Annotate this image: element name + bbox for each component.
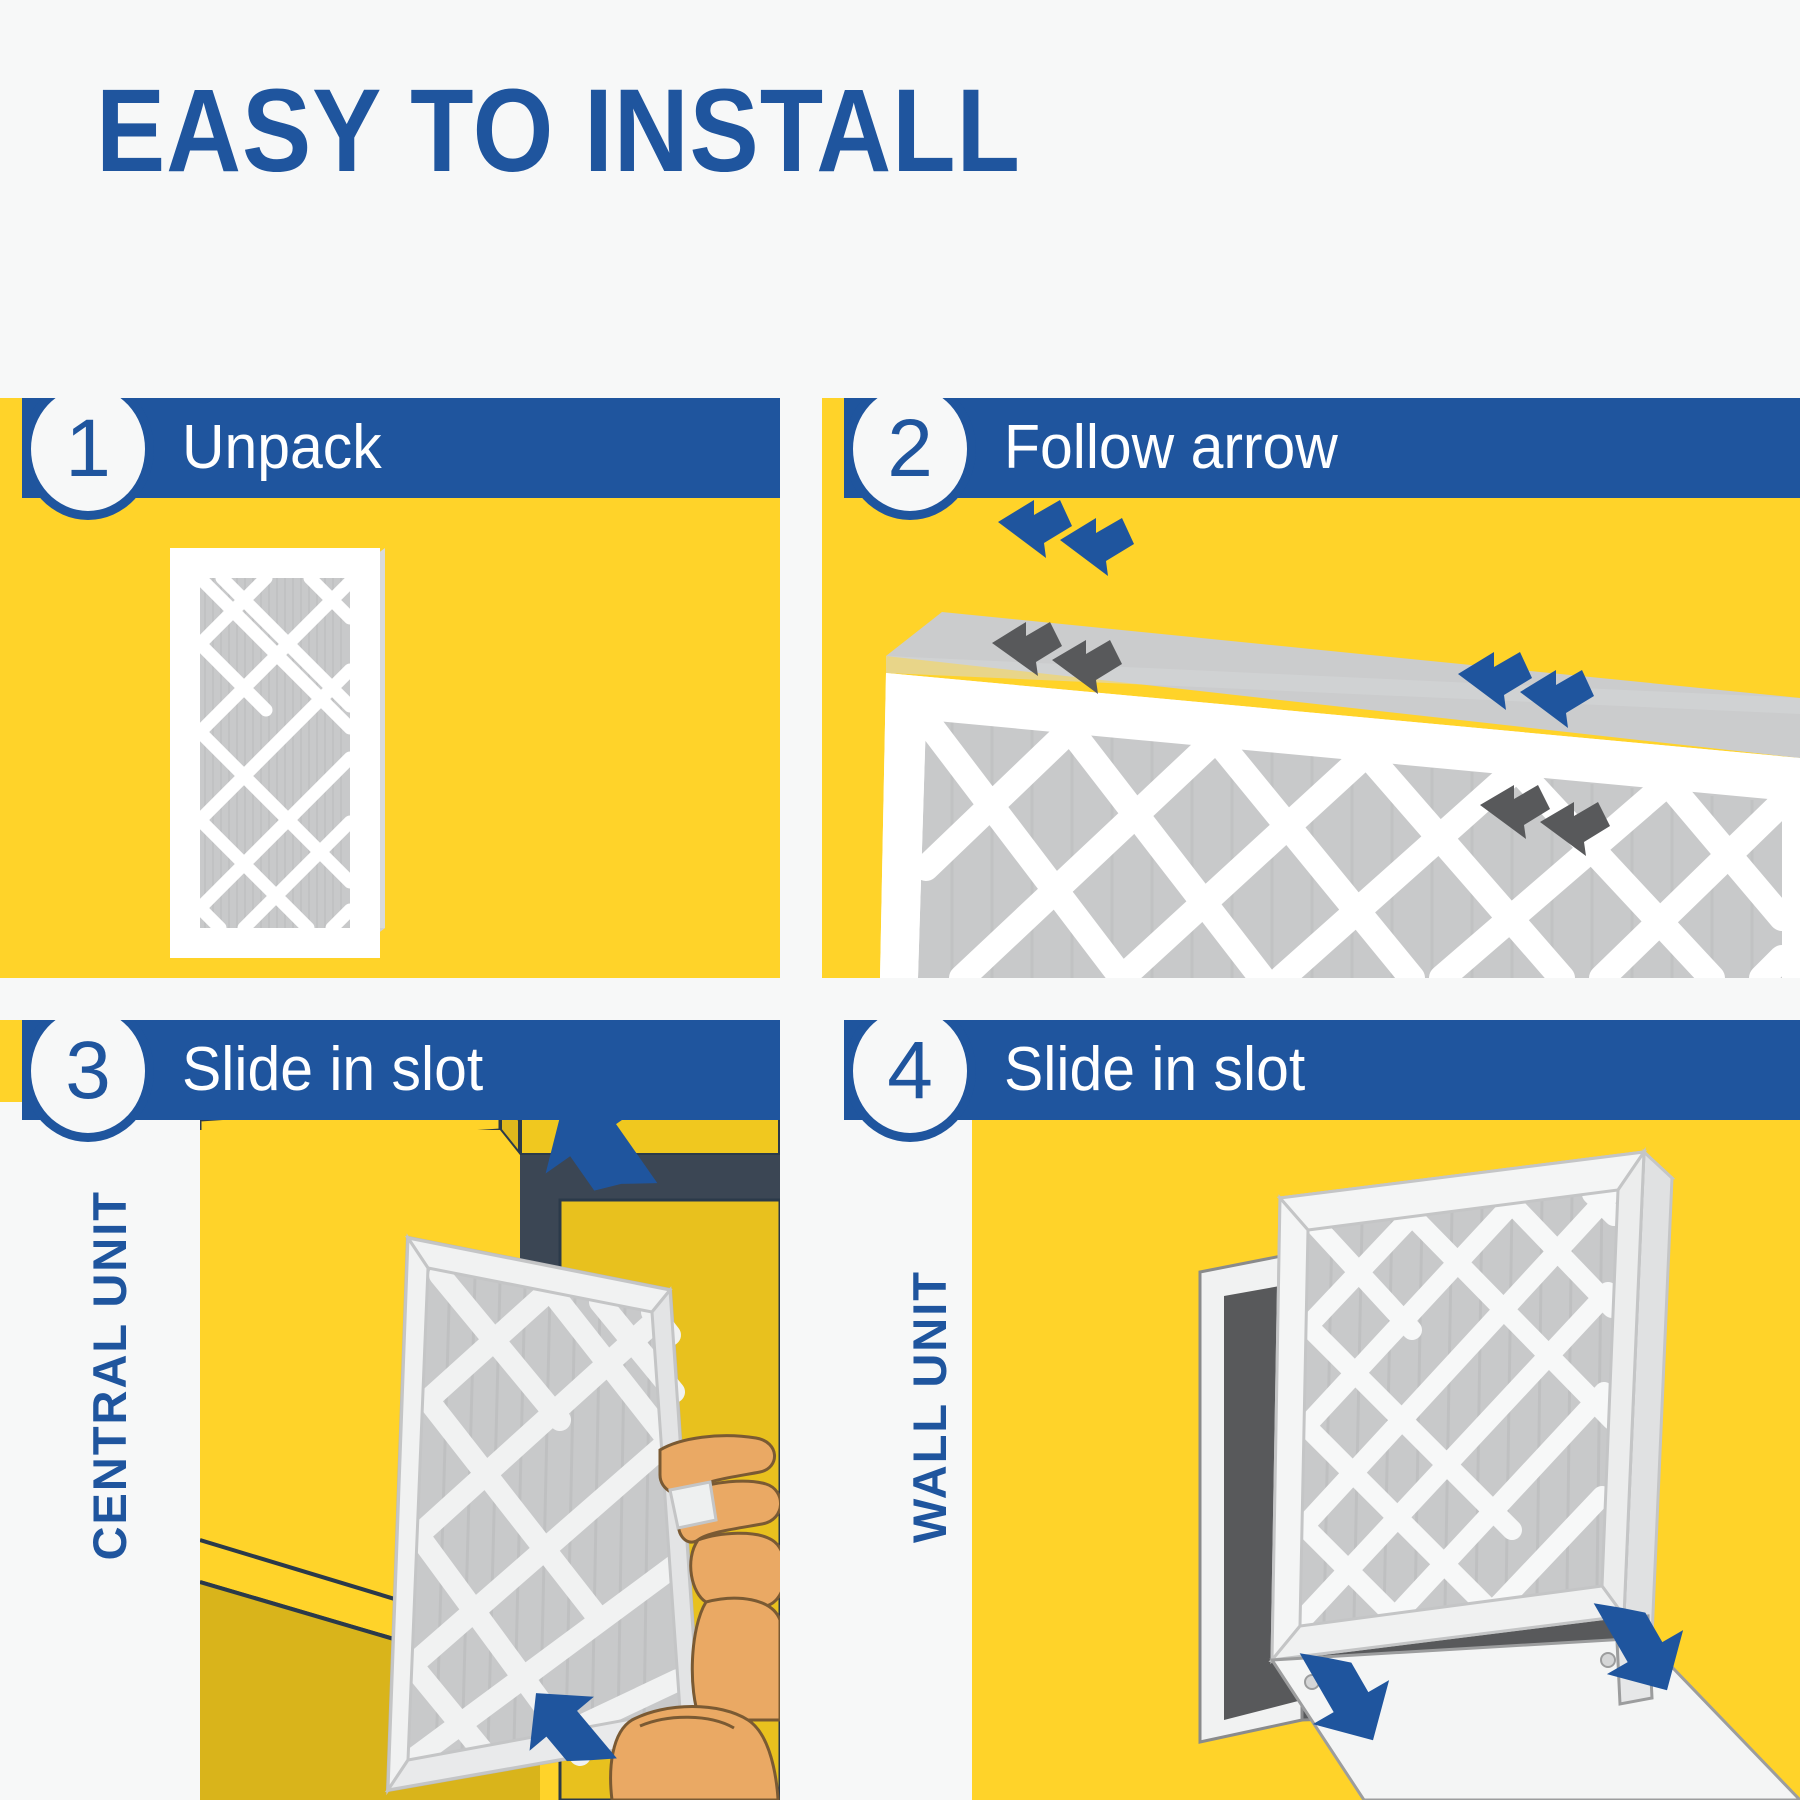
tilted-air-filter [880, 612, 1800, 978]
step-panel-2: Follow arrow 2 [822, 398, 1800, 978]
step-2-label: Follow arrow [1004, 417, 1338, 479]
wall-unit-side-label: WALL UNIT [902, 1270, 957, 1543]
wall-unit-illustration [972, 1020, 1800, 1800]
screw-icon [1601, 1653, 1615, 1667]
air-filter-front [185, 548, 385, 943]
step-1-label: Unpack [182, 417, 382, 479]
step-3-label: Slide in slot [182, 1039, 483, 1101]
step-4-header: Slide in slot [844, 1020, 1800, 1120]
step-4-number-badge: 4 [844, 1020, 976, 1142]
step-4-illustration-area [972, 1020, 1800, 1800]
step-3-illustration-area [200, 1020, 780, 1800]
central-unit-illustration [200, 1020, 780, 1800]
step-panel-4: Slide in slot 4 [822, 1020, 1800, 1800]
air-filter-front-tilted [1272, 1152, 1672, 1660]
step-4-label: Slide in slot [1004, 1039, 1305, 1101]
step-2-header: Follow arrow [844, 398, 1800, 498]
airflow-arrow-left [998, 500, 1134, 576]
step-3-number-badge: 3 [22, 1020, 154, 1142]
step-panel-1: Unpack 1 [0, 398, 780, 978]
central-unit-side-label: CENTRAL UNIT [82, 1190, 137, 1560]
page-title: EASY TO INSTALL [96, 72, 1021, 190]
